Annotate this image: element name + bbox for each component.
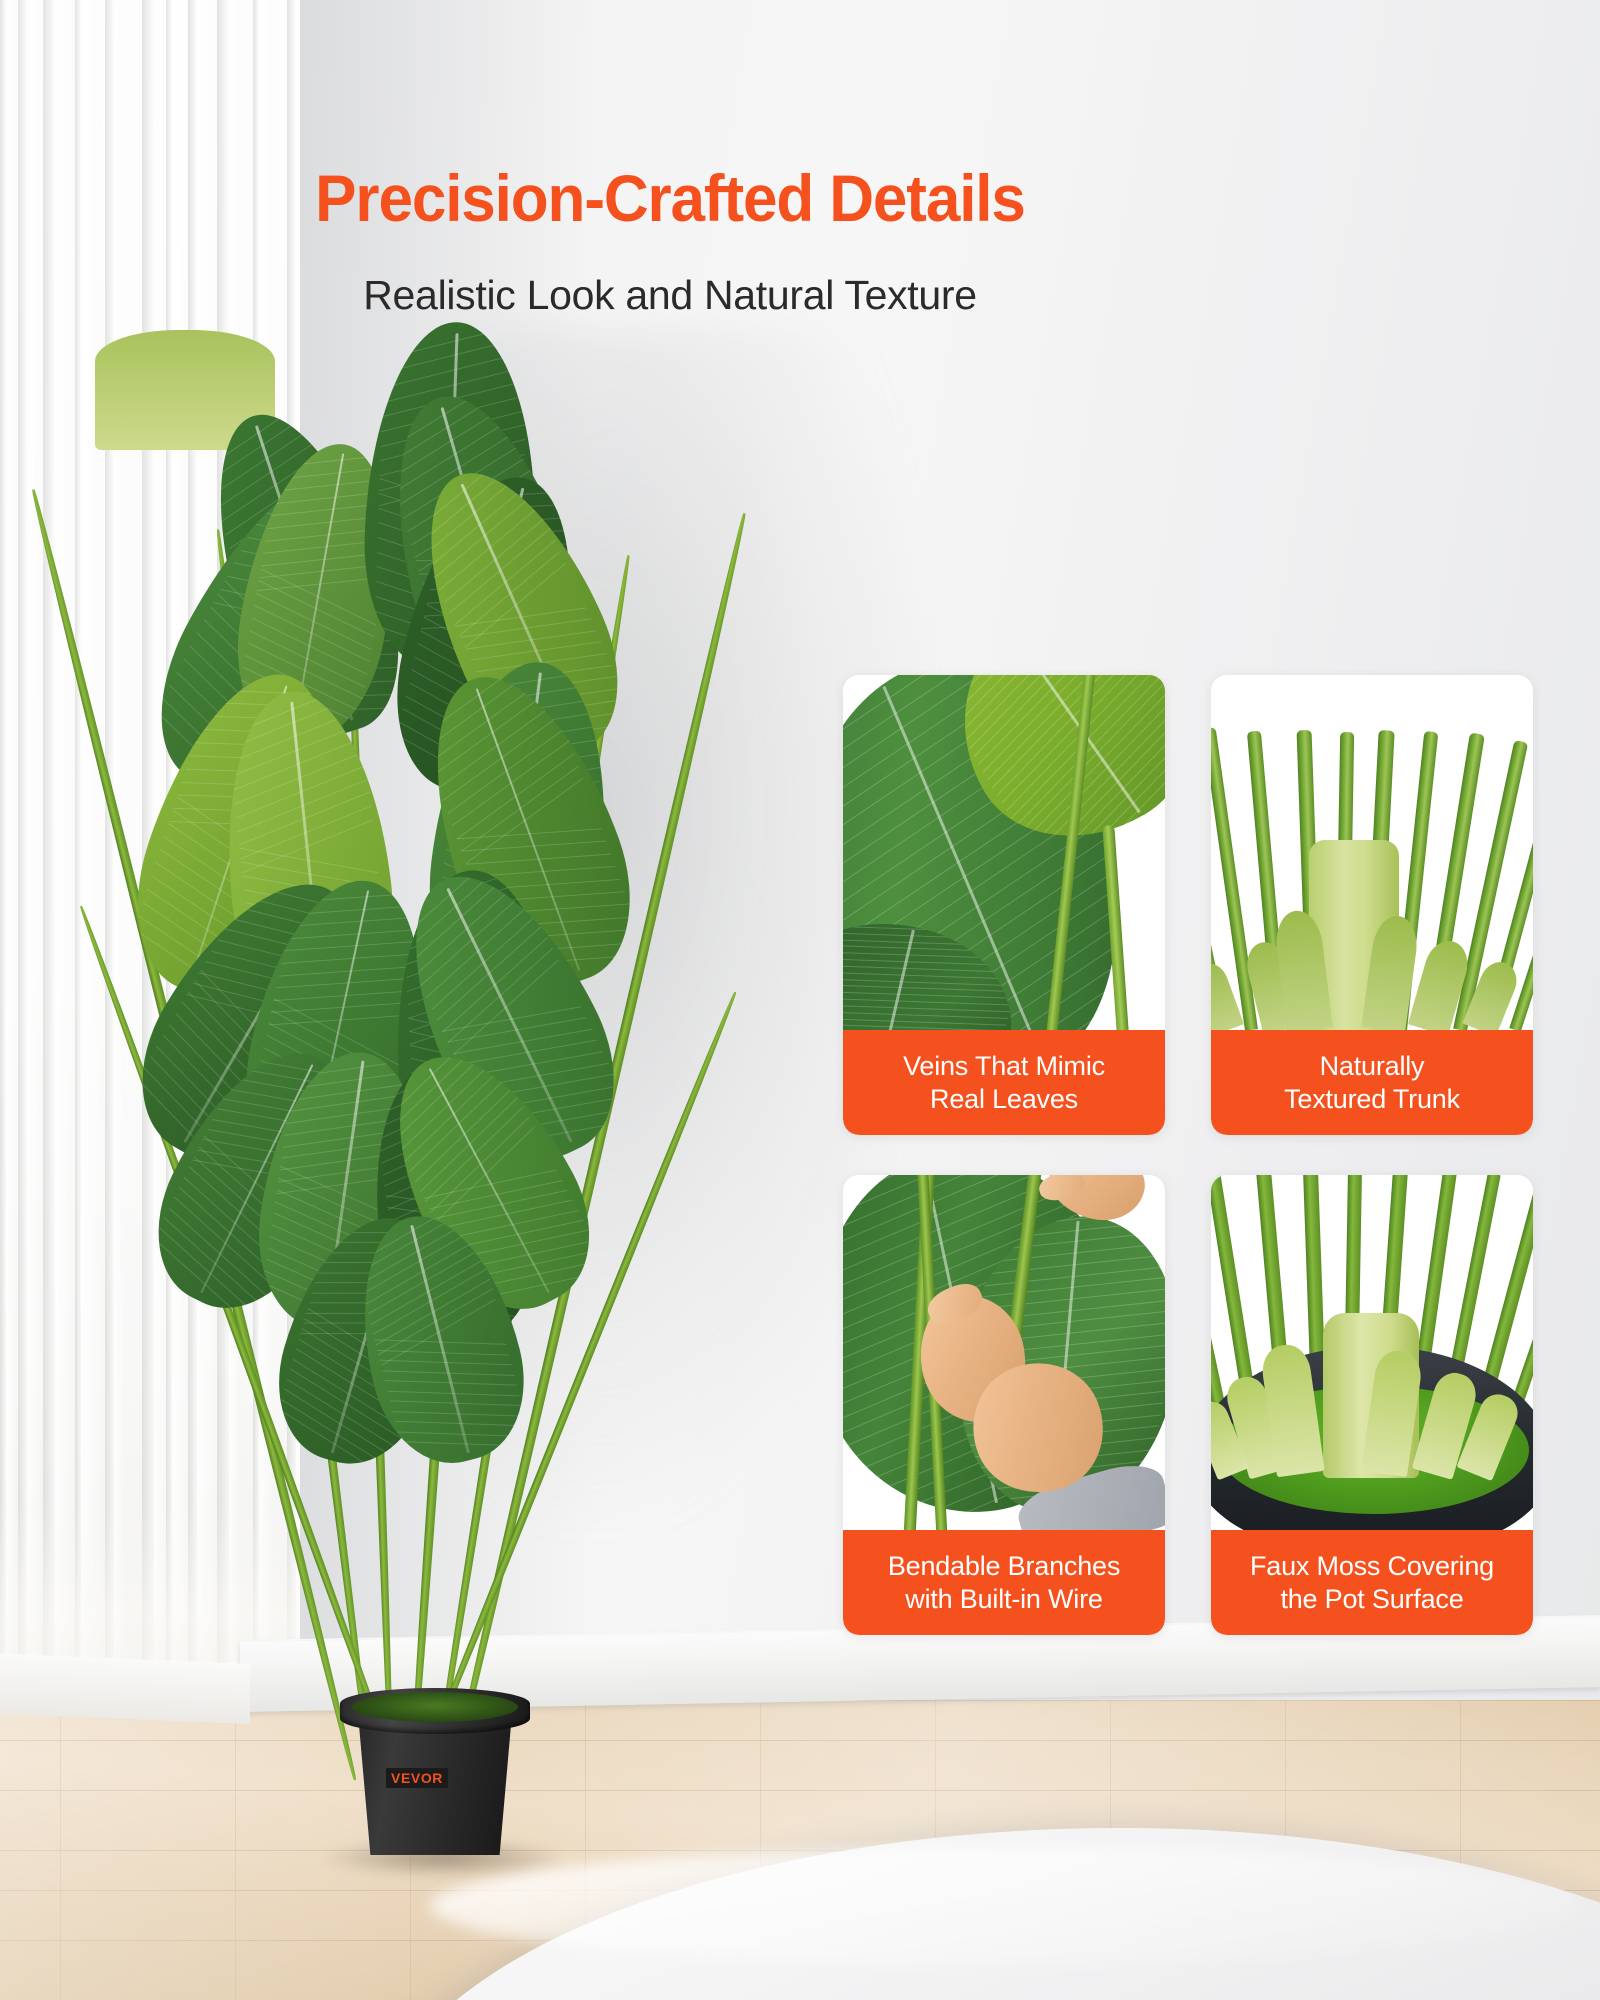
page-subtitle: Realistic Look and Natural Texture [0,272,1340,319]
card-caption-bendable: Bendable Branches with Built-in Wire [843,1530,1165,1635]
leaf-vein-line [843,958,1024,967]
tub-highlight [430,1846,1580,1966]
leaf-vein-line [1029,686,1165,849]
artificial-bird-of-paradise-plant [95,330,815,1780]
caption-line: Bendable Branches [888,1550,1120,1582]
caption-line: Naturally [1320,1050,1425,1082]
hand-bending-branch-photo [843,1175,1165,1530]
product-feature-infographic: VEVOR Precision-Crafted Details Realisti… [0,0,1600,2000]
feature-card-grid: Veins That Mimic Real Leaves Naturally T… [843,675,1533,1635]
vevor-logo: VEVOR [386,1768,448,1788]
feature-card-trunk[interactable]: Naturally Textured Trunk [1211,675,1533,1135]
curtain-pleat [18,0,27,1752]
moss-photo-canvas [1211,1175,1533,1530]
card-caption-trunk: Naturally Textured Trunk [1211,1030,1533,1135]
planter-pot-moss-top [352,1692,518,1722]
caption-line: with Built-in Wire [905,1583,1102,1615]
card-caption-moss: Faux Moss Covering the Pot Surface [1211,1530,1533,1635]
page-title: Precision-Crafted Details [40,160,1300,236]
faux-moss-pot-surface-photo [1211,1175,1533,1530]
caption-line: Textured Trunk [1284,1083,1460,1115]
leaf-vein-line [843,997,1012,1006]
trunk-photo-canvas [1211,675,1533,1030]
card-caption-veins: Veins That Mimic Real Leaves [843,1030,1165,1135]
leaf-vein-line [843,990,1014,999]
curtain-fold [6,0,16,1752]
curtain-fold [27,0,41,1752]
feature-card-veins[interactable]: Veins That Mimic Real Leaves [843,675,1165,1135]
curtain-fold [55,0,73,1752]
feature-card-bendable[interactable]: Bendable Branches with Built-in Wire [843,1175,1165,1635]
leaf-vein-line [843,951,1026,960]
caption-line: Real Leaves [930,1083,1078,1115]
caption-line: the Pot Surface [1280,1583,1463,1615]
caption-line: Veins That Mimic [903,1050,1105,1082]
curtain-pleat [43,0,55,1752]
leaf-vein-line [843,964,1022,973]
leaf-vein-closeup-photo [843,675,1165,1030]
feature-card-moss[interactable]: Faux Moss Covering the Pot Surface [1211,1175,1533,1635]
caption-line: Faux Moss Covering [1250,1550,1494,1582]
trunk-texture-closeup-photo [1211,675,1533,1030]
